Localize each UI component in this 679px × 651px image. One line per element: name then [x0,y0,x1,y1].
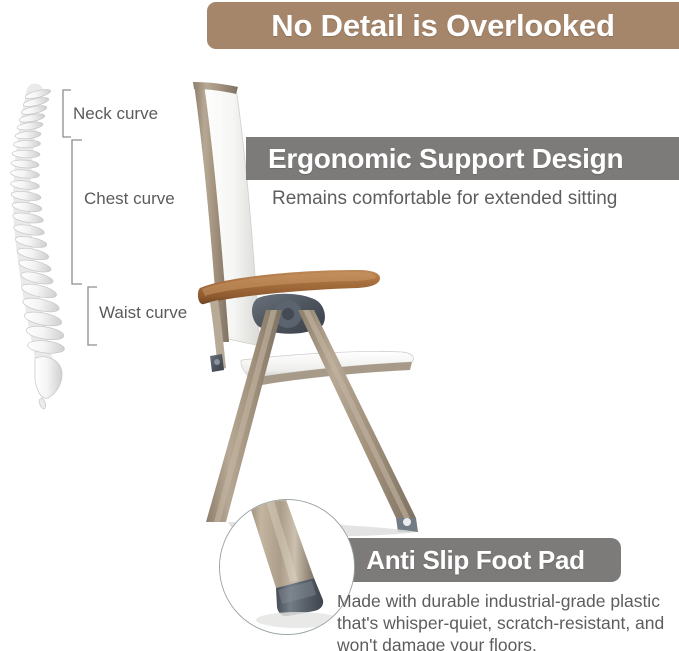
antislip-description-line-3: won't damage your floors. [337,634,673,651]
ergonomic-feature-banner: Ergonomic Support Design [246,137,679,180]
chair-hinge-bolt [282,308,294,320]
chair-foot-screw [403,518,411,526]
infographic-page: Neck curve Chest curve Waist curve [0,0,679,651]
ergonomic-heading: Ergonomic Support Design [268,143,623,175]
antislip-feature-banner: Anti Slip Foot Pad [330,538,621,582]
foot-pad-closeup-icon [220,500,354,634]
ergonomic-subtitle: Remains comfortable for extended sitting [272,188,617,210]
chair-rear-leg-highlight [303,310,410,518]
antislip-heading: Anti Slip Foot Pad [366,545,584,576]
foot-pad-magnifier-callout [219,499,355,635]
antislip-description-line-1: Made with durable industrial-grade plast… [337,590,673,612]
main-title-banner: No Detail is Overlooked [207,2,679,49]
bracket-waist [88,287,97,345]
chair-recline-pin [214,359,220,365]
bracket-chest [72,140,82,284]
bracket-neck [63,90,71,137]
antislip-description: Made with durable industrial-grade plast… [337,590,673,651]
label-neck-curve: Neck curve [73,104,158,124]
antislip-description-line-2: that's whisper-quiet, scratch-resistant,… [337,612,673,634]
magnified-floor-shadow [256,612,340,628]
main-title: No Detail is Overlooked [271,8,614,44]
